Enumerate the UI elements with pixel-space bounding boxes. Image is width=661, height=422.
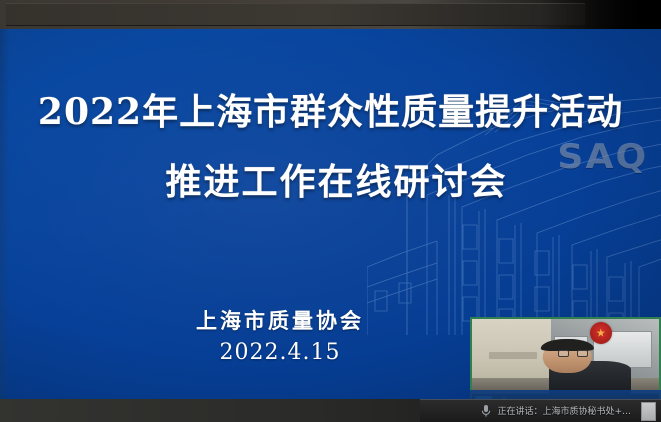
current-speaker-indicator: 正在讲话：上海市质协秘书处+… bbox=[481, 399, 631, 422]
top-chrome-inner-strip bbox=[6, 3, 585, 26]
slide-title-line-2: 推进工作在线研讨会 bbox=[0, 161, 661, 203]
participant-video-feed bbox=[472, 319, 659, 394]
microphone-icon bbox=[481, 404, 491, 418]
top-chrome-band bbox=[0, 0, 661, 29]
national-emblem-icon bbox=[590, 322, 612, 344]
video-wall-banner bbox=[489, 352, 538, 359]
speaking-status-text: 正在讲话：上海市质协秘书处+… bbox=[497, 404, 631, 417]
participant-glasses-right bbox=[577, 350, 588, 357]
status-bar-left-area bbox=[0, 399, 420, 422]
top-chrome-right-fade bbox=[541, 0, 661, 29]
speaking-status-bar: 正在讲话：上海市质协秘书处+… bbox=[0, 399, 661, 422]
participant-video-tile[interactable]: 上海市质协秘书处＋蒋曙东 bbox=[470, 317, 661, 399]
participant-glasses-left bbox=[558, 350, 569, 357]
slide-title-line-1: 2022年上海市群众性质量提升活动 bbox=[0, 91, 661, 133]
status-bar-scrollbar-thumb[interactable] bbox=[641, 402, 656, 421]
meeting-screen-share-view: SAQ 2022年上海市群众性质量提升活动 推进工作在线研讨会 上海市质量协会 … bbox=[0, 0, 661, 422]
presentation-slide: SAQ 2022年上海市群众性质量提升活动 推进工作在线研讨会 上海市质量协会 … bbox=[0, 29, 661, 399]
slide-bottom-strip bbox=[470, 390, 661, 399]
